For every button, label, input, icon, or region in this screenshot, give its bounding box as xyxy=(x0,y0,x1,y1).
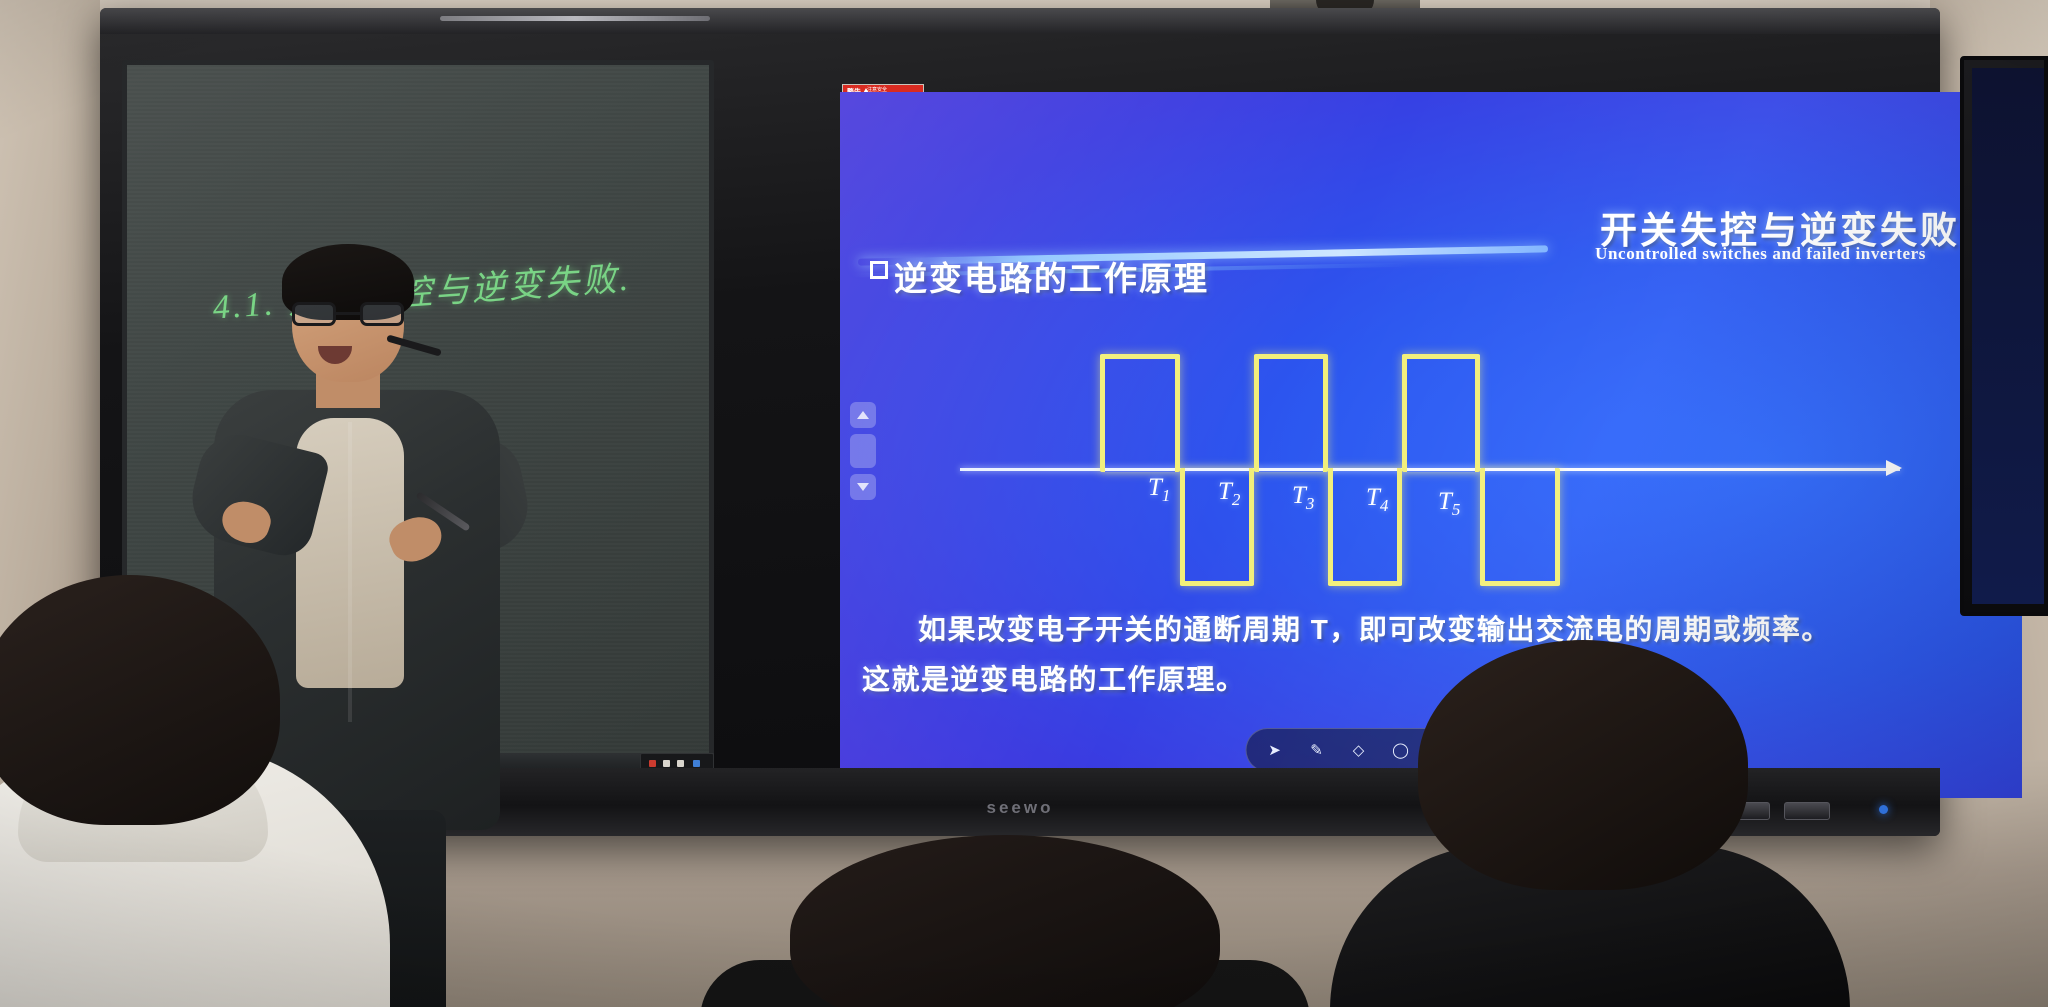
panel-led-blue xyxy=(693,760,700,767)
board-top-highlight xyxy=(440,16,710,21)
pulse-2-up xyxy=(1254,354,1328,472)
pen-icon[interactable]: ✎ xyxy=(1305,738,1329,762)
eraser-icon[interactable]: ◇ xyxy=(1347,738,1371,762)
axis-arrow-icon xyxy=(1886,460,1902,476)
usb-port-2[interactable] xyxy=(1784,802,1830,820)
power-led-icon xyxy=(1879,805,1888,814)
pulse-3-down xyxy=(1480,468,1560,586)
glasses-right-lens xyxy=(360,302,404,326)
chevron-up-icon xyxy=(857,411,869,419)
slide-bullet-label: 逆变电路的工作原理 xyxy=(894,252,1209,300)
panel-led-red xyxy=(649,760,656,767)
panel-led-white-2 xyxy=(677,760,684,767)
side-monitor xyxy=(1960,56,2048,616)
page-up-button[interactable] xyxy=(850,402,876,428)
side-monitor-screen xyxy=(1972,68,2044,604)
pulse-1-down xyxy=(1180,468,1254,586)
pulse-1-up xyxy=(1100,354,1180,472)
teacher-jacket-zipper xyxy=(348,422,352,722)
page-indicator[interactable] xyxy=(850,434,876,468)
slide-subtitle: Uncontrolled switches and failed inverte… xyxy=(1595,244,1926,264)
chevron-down-icon xyxy=(857,483,869,491)
student-3-head xyxy=(1418,640,1748,890)
waveform-diagram: T1 T2 T3 T4 T5 xyxy=(960,312,1900,572)
teacher-glasses-icon xyxy=(292,302,404,326)
slide-paragraph-1: 如果改变电子开关的通断周期 T，即可改变输出交流电的周期或频率。 xyxy=(918,608,1831,648)
page-navigation[interactable] xyxy=(850,402,876,500)
pulse-3-up xyxy=(1402,354,1480,472)
student-1-head xyxy=(0,575,280,825)
label-T5: T5 xyxy=(1438,488,1460,520)
panel-led-white xyxy=(663,760,670,767)
cursor-icon[interactable]: ➤ xyxy=(1263,738,1287,762)
page-down-button[interactable] xyxy=(850,474,876,500)
label-T4: T4 xyxy=(1366,484,1388,516)
presentation-screen[interactable]: 开关失控与逆变失败 Uncontrolled switches and fail… xyxy=(840,92,2022,798)
slide-paragraph-2: 这就是逆变电路的工作原理。 xyxy=(862,658,1246,698)
slide-bullet: 逆变电路的工作原理 xyxy=(870,252,1209,300)
glasses-bridge xyxy=(336,312,360,315)
zoom-icon[interactable]: ◯ xyxy=(1389,738,1413,762)
label-T2: T2 xyxy=(1218,478,1240,510)
bullet-square-icon xyxy=(870,261,888,279)
label-T1: T1 xyxy=(1148,474,1170,506)
label-T3: T3 xyxy=(1292,482,1314,514)
classroom-scene: 4.1. 开关失控与逆变失败. 警告 注意安全请勿拆卸 开关失控与逆变失败 xyxy=(0,0,2048,1007)
pulse-2-down xyxy=(1328,468,1402,586)
glasses-left-lens xyxy=(292,302,336,326)
board-top-strip xyxy=(100,8,1940,34)
board-brand-logo: seewo xyxy=(987,798,1054,818)
